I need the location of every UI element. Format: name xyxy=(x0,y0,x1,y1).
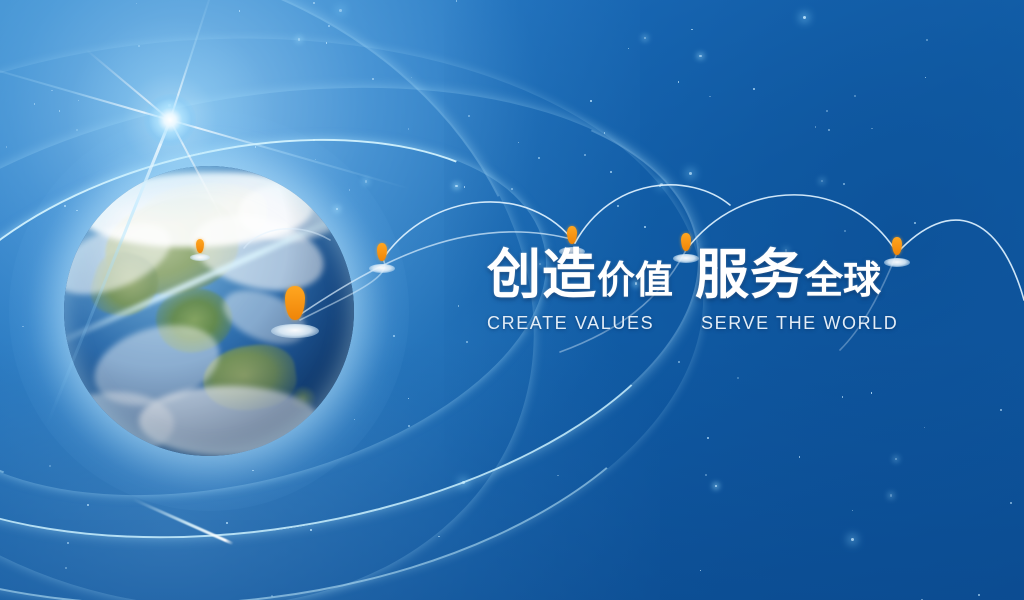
slogan-cn-values: 价值 xyxy=(597,260,673,302)
slogan-en-create-values: CREATE VALUES xyxy=(487,313,627,334)
hero-banner: 创造价值服务全球 CREATE VALUES SERVE THE WORLD xyxy=(0,0,1024,600)
slogan-cn-create: 创造 xyxy=(487,245,597,305)
pin-base xyxy=(369,264,395,273)
slogan-chinese-line: 创造价值服务全球 xyxy=(487,248,917,302)
slogan-english-line: CREATE VALUES SERVE THE WORLD xyxy=(487,313,917,334)
route-arc-2 xyxy=(575,185,730,243)
route-arc-9 xyxy=(244,229,330,248)
pin-base xyxy=(271,324,319,338)
slogan-cn-world: 全球 xyxy=(805,260,881,302)
slogan-en-serve-the-world: SERVE THE WORLD xyxy=(701,313,898,334)
slogan-block: 创造价值服务全球 CREATE VALUES SERVE THE WORLD xyxy=(487,248,917,334)
slogan-cn-serve: 服务 xyxy=(695,245,805,305)
pin-base xyxy=(190,254,210,261)
